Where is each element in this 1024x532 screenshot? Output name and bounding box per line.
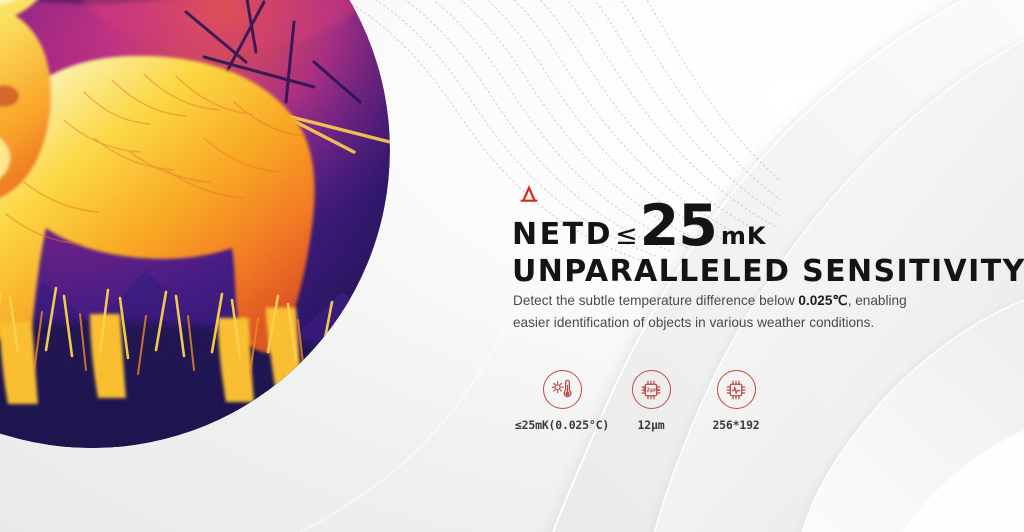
netd-label: NETD [512,220,613,253]
spec-label: 256*192 [688,418,784,432]
spec-icon-ring [717,370,756,409]
thermal-boar-illustration [0,0,390,448]
thermometer-sun-icon [550,378,574,402]
netd-unit: mK [717,224,767,253]
less-than-or-equal-icon: ≤ [613,222,640,253]
banner-root: NETD ≤ 25 mK UNPARALLELED SENSITIVITY De… [0,0,1024,532]
description-paragraph: Detect the subtle temperature difference… [513,290,941,334]
headline-primary-row: NETD ≤ 25 mK [512,196,1012,253]
spec-row: ≤25mK(0.025°C) [512,370,802,440]
headline-subtitle: UNPARALLELED SENSITIVITY [512,257,1012,287]
headline-block: NETD ≤ 25 mK UNPARALLELED SENSITIVITY [512,196,1012,287]
chip-waveform-icon [724,378,748,402]
spec-item-netd: ≤25mK(0.025°C) [506,370,618,432]
chip-pixel-pitch-icon: 12μm [639,378,663,402]
spec-label: ≤25mK(0.025°C) [506,418,618,432]
spec-item-resolution: 256*192 [688,370,784,432]
spec-label: 12μm [612,418,690,432]
thermal-hero-image [0,0,390,448]
chip-inner-text: 12μm [642,387,659,393]
spec-icon-ring: 12μm [632,370,671,409]
description-highlight: 0.025℃ [798,293,847,308]
description-before: Detect the subtle temperature difference… [513,293,798,308]
spec-icon-ring [543,370,582,409]
content-column: NETD ≤ 25 mK UNPARALLELED SENSITIVITY De… [512,0,1012,532]
spec-item-pixel-pitch: 12μm 12μm [612,370,690,432]
netd-value: 25 [640,198,717,255]
